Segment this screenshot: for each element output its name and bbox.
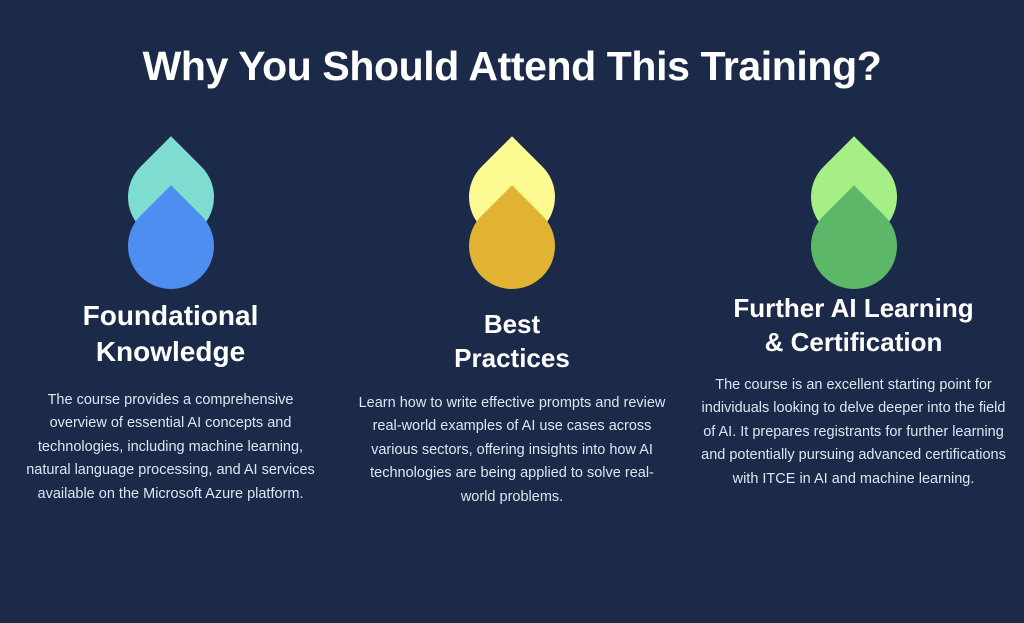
feature-description: The course provides a comprehensive over… [21, 389, 321, 506]
feature-column-further-ai-learning: Further AI Learning & Certification The … [683, 140, 1024, 491]
feature-description: Learn how to write effective prompts and… [356, 392, 668, 509]
feature-heading: Best Practices [454, 308, 570, 376]
slide-canvas: Why You Should Attend This Training? Fou… [0, 0, 1024, 623]
feature-description: The course is an excellent starting poin… [698, 374, 1010, 491]
feature-column-best-practices: Best Practices Learn how to write effect… [342, 140, 683, 509]
fan-chevron-icon-blue [96, 140, 246, 280]
feature-heading: Foundational Knowledge [83, 298, 259, 371]
fan-chevron-icon-gold [437, 140, 587, 280]
feature-columns: Foundational Knowledge The course provid… [0, 140, 1024, 540]
feature-heading: Further AI Learning & Certification [733, 292, 973, 360]
page-title: Why You Should Attend This Training? [0, 44, 1024, 89]
fan-chevron-icon-green [779, 140, 929, 280]
feature-column-foundational-knowledge: Foundational Knowledge The course provid… [0, 140, 341, 506]
